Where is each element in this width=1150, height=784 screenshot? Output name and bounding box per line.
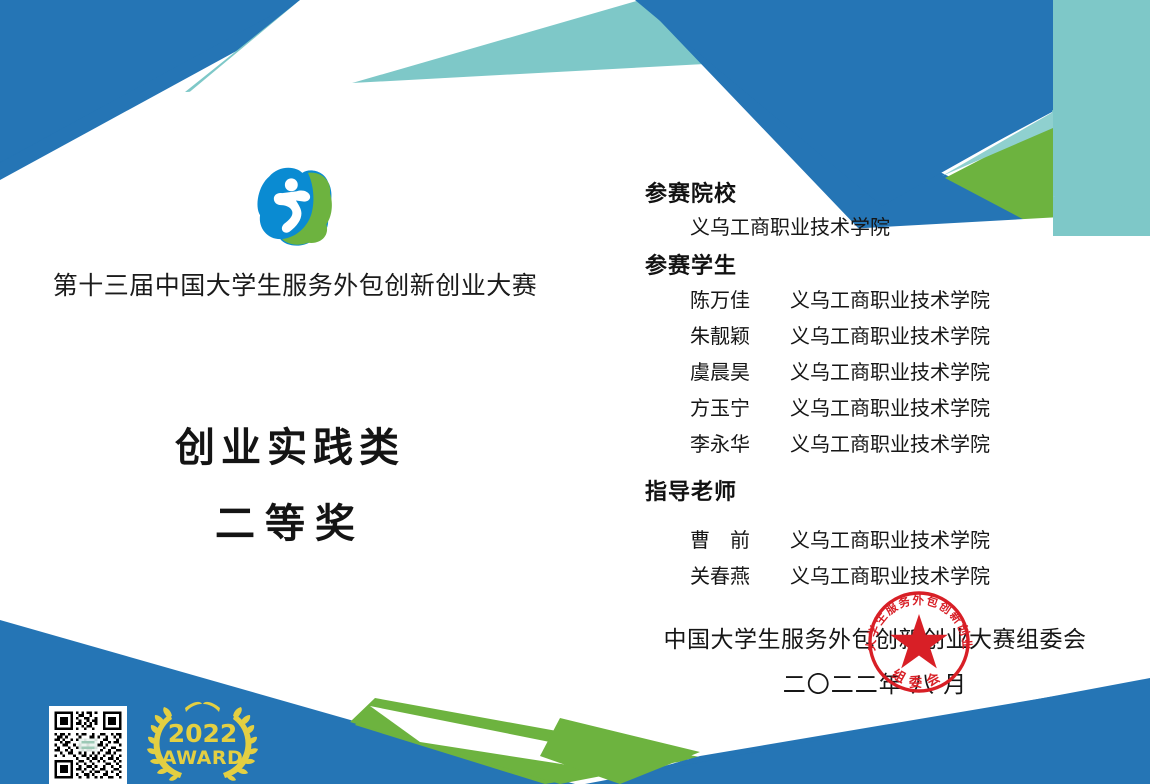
student-school: 义乌工商职业技术学院	[790, 356, 1115, 385]
certificate-page: 第十三届中国大学生服务外包创新创业大赛 创业实践类 二等奖 参赛院校 义乌工商职…	[0, 0, 1150, 784]
teacher-name: 关春燕	[645, 560, 790, 589]
students-heading: 参赛学生	[645, 248, 1115, 280]
student-row: 陈万佳 义乌工商职业技术学院	[645, 284, 1115, 320]
student-school: 义乌工商职业技术学院	[790, 320, 1115, 349]
teacher-school: 义乌工商职业技术学院	[790, 524, 1115, 553]
badge-label: AWARD	[162, 747, 244, 769]
badge-year: 2022	[168, 719, 238, 748]
student-name: 方玉宁	[645, 392, 790, 421]
brand-block: 第十三届中国大学生服务外包创新创业大赛	[0, 160, 590, 302]
student-school: 义乌工商职业技术学院	[790, 392, 1115, 421]
award-badge: 2022 AWARD	[140, 694, 265, 784]
student-school: 义乌工商职业技术学院	[790, 284, 1115, 313]
details-panel: 参赛院校 义乌工商职业技术学院 参赛学生 陈万佳 义乌工商职业技术学院 朱靓颖 …	[645, 176, 1115, 596]
qr-code[interactable]	[49, 706, 127, 784]
contest-title: 第十三届中国大学生服务外包创新创业大赛	[0, 266, 590, 302]
student-name: 李永华	[645, 428, 790, 457]
certificate-content: 第十三届中国大学生服务外包创新创业大赛 创业实践类 二等奖 参赛院校 义乌工商职…	[0, 0, 1150, 784]
student-name: 陈万佳	[645, 284, 790, 313]
teacher-school: 义乌工商职业技术学院	[790, 560, 1115, 589]
student-row: 虞晨昊 义乌工商职业技术学院	[645, 356, 1115, 392]
teachers-heading: 指导老师	[645, 474, 1115, 506]
teacher-name: 曹 前	[645, 524, 790, 553]
award-level: 二等奖	[0, 491, 580, 549]
student-row: 李永华 义乌工商职业技术学院	[645, 428, 1115, 464]
issue-date: 二〇二二年 八 月	[640, 665, 1110, 699]
award-category: 创业实践类	[0, 415, 580, 473]
student-row: 朱靓颖 义乌工商职业技术学院	[645, 320, 1115, 356]
contest-logo-icon	[249, 160, 341, 252]
student-row: 方玉宁 义乌工商职业技术学院	[645, 392, 1115, 428]
student-name: 朱靓颖	[645, 320, 790, 349]
school-name: 义乌工商职业技术学院	[645, 212, 1115, 248]
student-name: 虞晨昊	[645, 356, 790, 385]
spacer	[645, 510, 1115, 524]
issuer-name: 中国大学生服务外包创新创业大赛组委会	[640, 620, 1110, 654]
student-school: 义乌工商职业技术学院	[790, 428, 1115, 457]
teacher-row: 关春燕 义乌工商职业技术学院	[645, 560, 1115, 596]
school-heading: 参赛院校	[645, 176, 1115, 208]
signature-block: 中国大学生服务外包创新创业大赛组委会 二〇二二年 八 月	[640, 620, 1110, 699]
award-block: 创业实践类 二等奖	[0, 415, 580, 549]
school-name-text: 义乌工商职业技术学院	[690, 215, 890, 239]
teacher-row: 曹 前 义乌工商职业技术学院	[645, 524, 1115, 560]
